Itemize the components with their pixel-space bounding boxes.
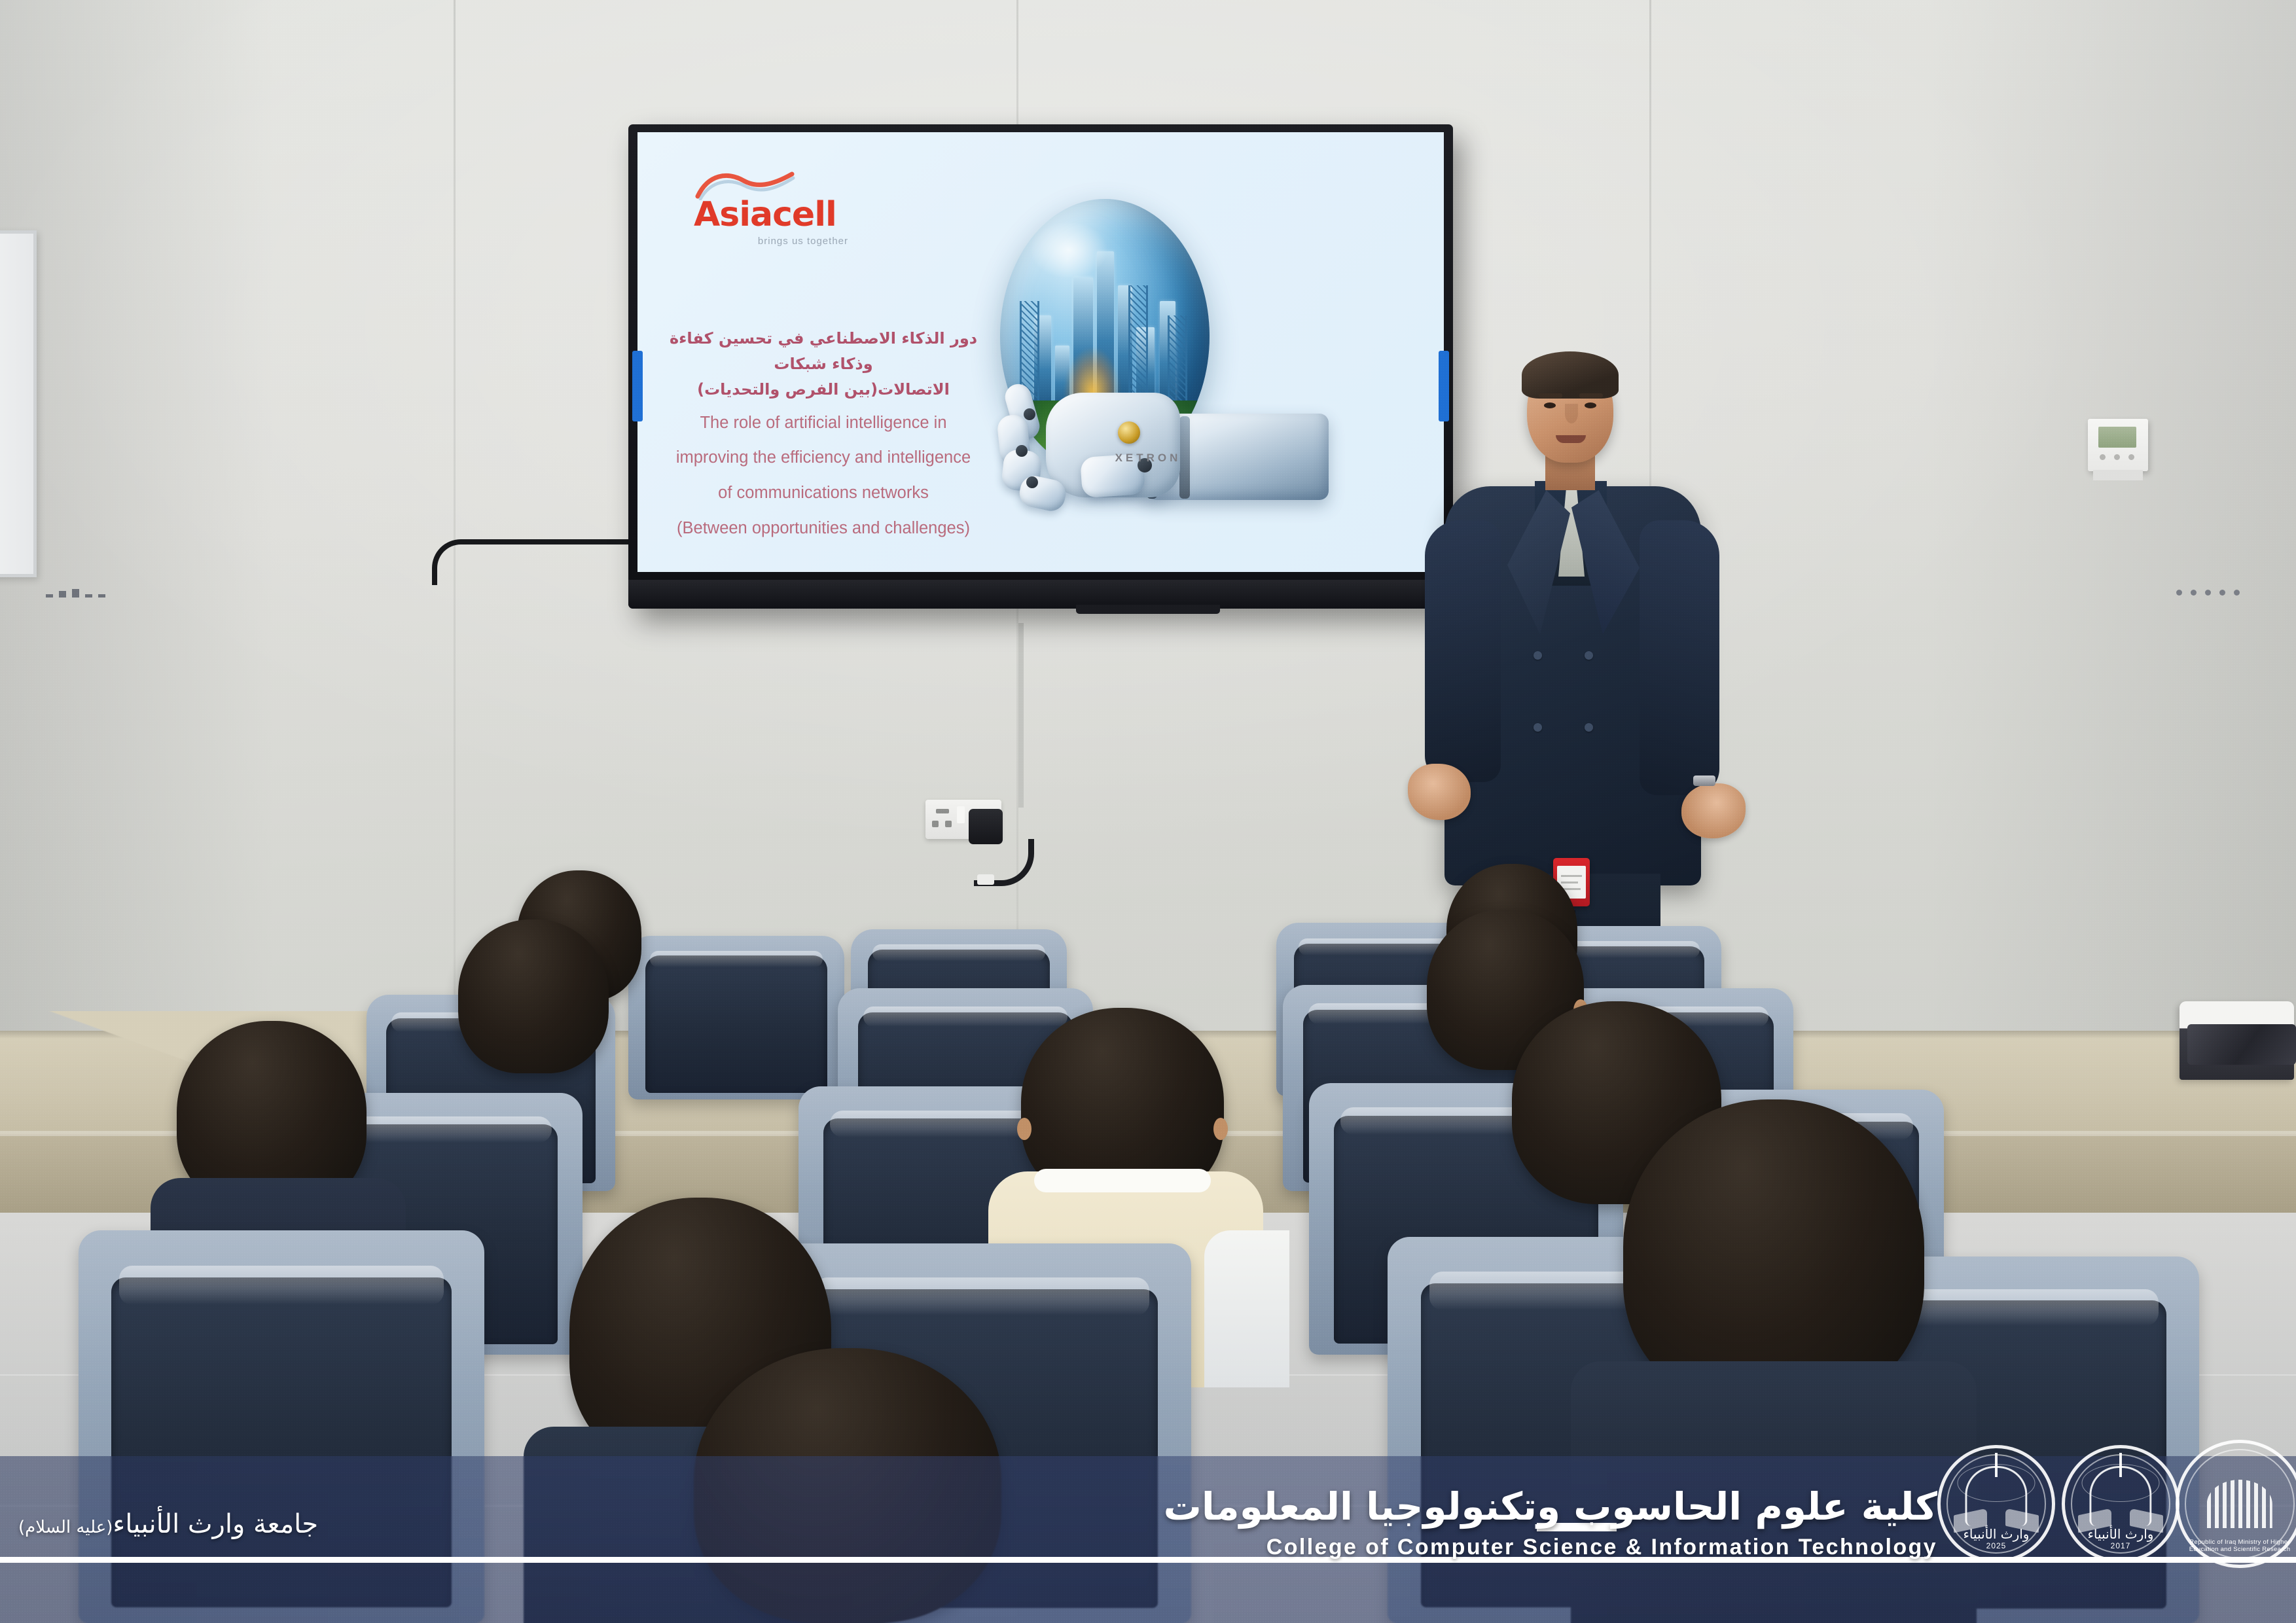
socket-slot: [936, 809, 949, 813]
presenter-right-hand: [1681, 783, 1746, 838]
display-side-tab-left[interactable]: [632, 351, 643, 421]
university-name-arabic: جامعة وارث الأنبياء(عليه السلام): [18, 1509, 318, 1539]
seat: [628, 936, 844, 1099]
crest-arabic-0: وارث الأنبياء: [1941, 1526, 2052, 1542]
slide-title-english-line3: of communications networks: [662, 479, 984, 508]
display-controls[interactable]: [46, 589, 105, 597]
asiacell-tagline: brings us together: [694, 236, 851, 247]
slide-title-english-line1: The role of artificial intelligence in: [662, 409, 984, 438]
presenter-mouth: [1556, 435, 1586, 443]
banner-divider: [0, 1557, 2296, 1563]
thermostat-button[interactable]: [2114, 454, 2120, 460]
university-name-suffix: (عليه السلام): [18, 1518, 113, 1537]
robotic-hand-icon: [983, 353, 1232, 517]
display-screen[interactable]: Asiacell brings us together دور الذكاء ا…: [637, 132, 1444, 572]
college-name-block: كلية علوم الحاسوب وتكنولوجيا المعلومات C…: [1164, 1486, 1937, 1560]
crest-year-1: 2017: [2065, 1541, 2176, 1550]
thermostat-base: [2093, 470, 2143, 480]
display-cable-run: [1018, 623, 1024, 808]
asiacell-swoosh-icon: [694, 170, 851, 200]
presenter-left-sleeve: [1425, 520, 1501, 782]
college-crest-logo: وارث الأنبياء 2025: [1937, 1445, 2055, 1563]
thermostat-button[interactable]: [2100, 454, 2106, 460]
asiacell-logo: Asiacell brings us together: [694, 170, 851, 247]
crest-arabic-1: وارث الأنبياء: [2065, 1526, 2176, 1542]
asiacell-wordmark: Asiacell: [694, 198, 851, 232]
cable-connector: [977, 874, 994, 885]
whiteboard: [0, 230, 37, 577]
socket-slot: [945, 821, 952, 827]
slide-artwork: [983, 190, 1232, 517]
waste-bin-liner: [2187, 1024, 2296, 1065]
slide-title-english-line4: (Between opportunities and challenges): [662, 514, 984, 543]
slide-title-arabic-line2: الاتصالات(بين الفرص والتحديات): [662, 377, 984, 402]
wall-display[interactable]: Asiacell brings us together دور الذكاء ا…: [628, 124, 1453, 609]
slide-title-english-line2: improving the efficiency and intelligenc…: [662, 444, 984, 473]
presenter-left-hand: [1408, 764, 1471, 820]
audience-shirt-sleeve: [1204, 1230, 1289, 1387]
crest-year-0: 2025: [1941, 1541, 2052, 1550]
ministry-crest-logo: Republic of Iraq Ministry of Higher Educ…: [2176, 1440, 2296, 1568]
crest-english-2: Republic of Iraq Ministry of Higher Educ…: [2179, 1539, 2296, 1554]
socket-slot: [932, 821, 939, 827]
lecture-hall-photo: Asiacell brings us together دور الذكاء ا…: [0, 0, 2296, 1623]
audience-member: [458, 919, 609, 1073]
presenter-right-sleeve: [1640, 520, 1719, 795]
display-mount-nub: [1076, 605, 1220, 614]
slide-title-block: دور الذكاء الاصطناعي في تحسين كفاءة وذكا…: [662, 326, 984, 543]
display-brand-label: XETRON: [1115, 452, 1181, 465]
thermostat-display: [2098, 427, 2136, 448]
robot-emblem: [1118, 421, 1140, 444]
college-name-english: College of Computer Science & Informatio…: [1164, 1535, 1937, 1560]
display-ports[interactable]: [2176, 590, 2240, 596]
thermostat-button[interactable]: [2128, 454, 2134, 460]
slide-title-arabic-line1: دور الذكاء الاصطناعي في تحسين كفاءة وذكا…: [662, 326, 984, 377]
university-crest-logo: وارث الأنبياء 2017: [2062, 1445, 2179, 1563]
presenter-nose: [1565, 404, 1578, 423]
thermostat[interactable]: [2088, 419, 2148, 471]
college-name-arabic: كلية علوم الحاسوب وتكنولوجيا المعلومات: [1164, 1486, 1937, 1528]
presenter-wristwatch: [1693, 776, 1715, 786]
orb-highlight: [1030, 221, 1108, 279]
socket-switch[interactable]: [957, 806, 965, 823]
presentation-slide: Asiacell brings us together دور الذكاء ا…: [637, 132, 1444, 572]
audience-shirt-collar: [1034, 1169, 1211, 1192]
presenter-hair: [1522, 351, 1619, 399]
display-cable: [432, 539, 628, 585]
university-name-main: جامعة وارث الأنبياء: [113, 1509, 318, 1539]
display-bottom-bezel: [628, 580, 1453, 609]
bottom-banner: جامعة وارث الأنبياء(عليه السلام) كلية عل…: [0, 1456, 2296, 1623]
